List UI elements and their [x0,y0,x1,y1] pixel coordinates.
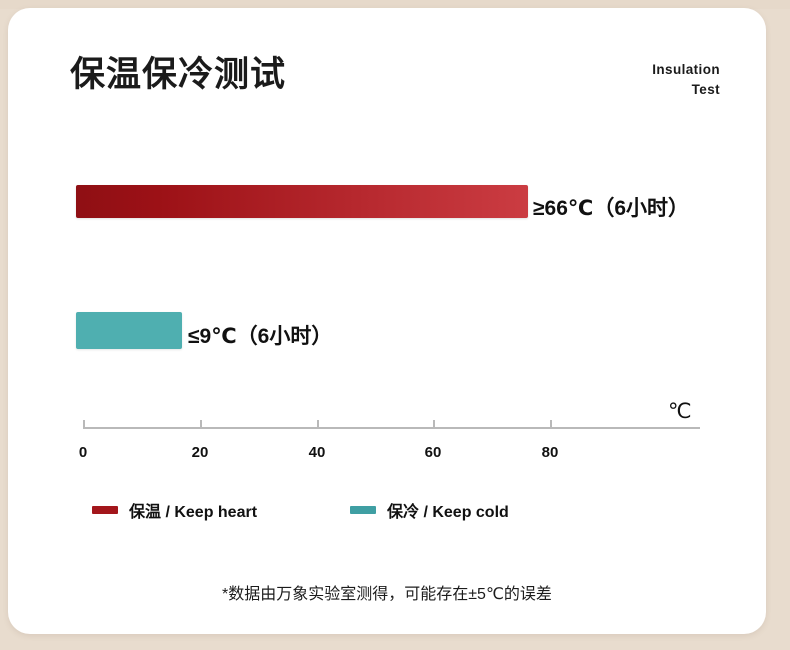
x-axis-tick-label-40: 40 [309,444,326,461]
bar-label-keep-cold: ≤9℃（6小时） [188,320,332,350]
x-axis-tick-label-60: 60 [425,444,442,461]
page-root: 保温保冷测试 Insulation Test ≥66℃（6小时） ≤9℃（6小时… [0,0,790,650]
bar-keep-cold [76,312,182,349]
legend-label-keep-heart: 保温 / Keep heart [129,498,257,522]
bar-label-keep-heart: ≥66℃（6小时） [533,192,689,222]
x-axis-unit-label: ℃ [668,399,692,424]
x-axis-tick-40 [317,420,319,428]
x-axis-tick-label-0: 0 [79,444,87,461]
legend-label-keep-cold: 保冷 / Keep cold [387,498,509,522]
chart-footnote: *数据由万象实验室测得，可能存在±5℃的误差 [8,580,766,604]
bar-chart: ≥66℃（6小时） ≤9℃（6小时） 020406080 ℃ [8,8,766,634]
content-card: 保温保冷测试 Insulation Test ≥66℃（6小时） ≤9℃（6小时… [8,8,766,634]
x-axis-tick-label-20: 20 [192,444,209,461]
chart-legend: 保温 / Keep heart 保冷 / Keep cold [80,498,700,528]
legend-swatch-keep-cold [350,506,376,514]
x-axis-tick-label-80: 80 [542,444,559,461]
x-axis-tick-60 [433,420,435,428]
x-axis-tick-80 [550,420,552,428]
legend-item-keep-heart: 保温 / Keep heart [92,498,257,522]
x-axis-tick-20 [200,420,202,428]
x-axis-tick-0 [83,420,85,428]
bar-keep-heart [76,185,528,218]
legend-swatch-keep-heart [92,506,118,514]
legend-item-keep-cold: 保冷 / Keep cold [350,498,509,522]
x-axis-line [83,427,700,429]
